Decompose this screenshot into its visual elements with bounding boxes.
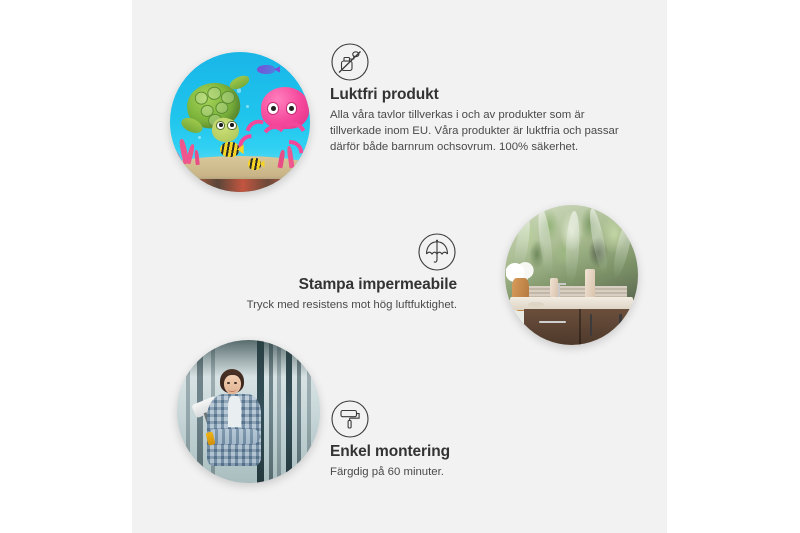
dispenser-bottle — [585, 269, 596, 300]
soap-dish — [528, 302, 544, 308]
folded-arms — [208, 429, 259, 445]
bubble-icon — [198, 136, 201, 139]
bubble-icon — [246, 105, 249, 108]
dispenser-bottle — [550, 278, 558, 298]
feature-description: Alla våra tavlor tillverkas i och av pro… — [330, 107, 622, 156]
tree-canopy — [177, 340, 320, 377]
feature-odourless: Luktfri produkt Alla våra tavlor tillver… — [330, 42, 622, 156]
feature-title: Stampa impermeabile — [175, 276, 457, 294]
feature-title: Luktfri produkt — [330, 86, 622, 104]
yellow-fish-icon — [248, 158, 261, 169]
vanity-cabinet — [524, 309, 630, 345]
product-image-forest — [177, 340, 320, 483]
feature-description: Tryck med resistens mot hög luftfuktighe… — [175, 297, 457, 313]
no-perfume-icon — [330, 42, 370, 82]
feature-description: Färgdig på 60 minuter. — [330, 464, 592, 480]
product-image-ocean — [170, 52, 310, 192]
ocean-scene — [170, 52, 310, 192]
reef-rocks — [170, 179, 310, 192]
yellow-fish-icon — [220, 142, 238, 157]
feature-easy-install: Enkel montering Färgdig på 60 minuter. — [330, 399, 592, 480]
bathroom-scene — [505, 205, 638, 345]
paint-roller-icon — [330, 399, 370, 439]
feature-banner: Luktfri produkt Alla våra tavlor tillver… — [0, 0, 800, 533]
umbrella-icon — [417, 232, 457, 272]
feature-waterproof: Stampa impermeabile Tryck med resistens … — [175, 232, 457, 313]
shirt-inner — [228, 396, 241, 427]
purple-fish-icon — [257, 65, 275, 75]
faucet-icon — [558, 283, 560, 297]
feature-title: Enkel montering — [330, 443, 592, 461]
forest-scene — [177, 340, 320, 483]
product-image-bathroom — [505, 205, 638, 345]
